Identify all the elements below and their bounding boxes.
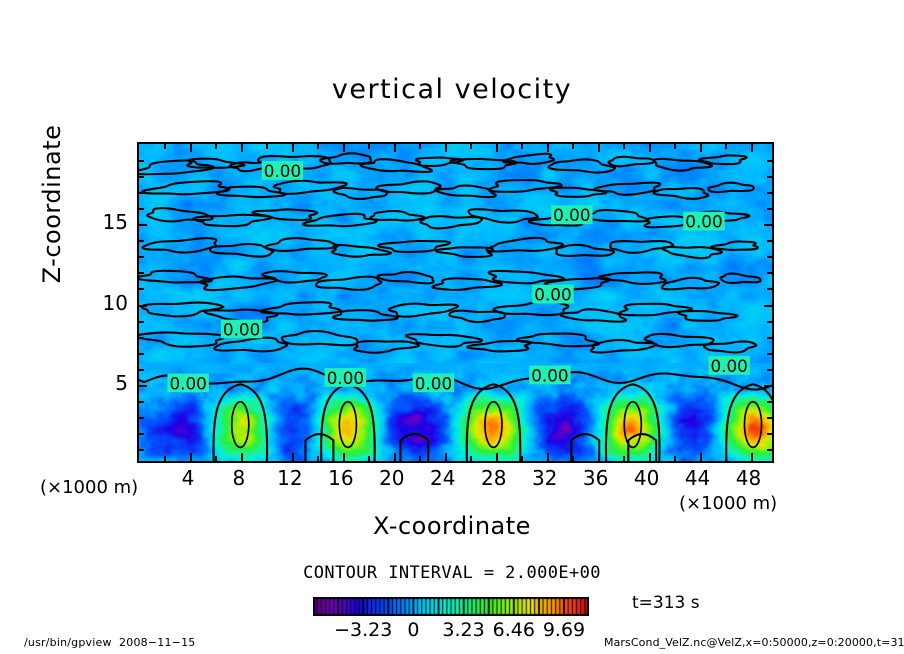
x-tick-top-8 [241, 144, 243, 152]
y-tick-right-18 [767, 176, 772, 178]
y-tick-right-16 [767, 208, 772, 210]
x-tick-bottom-4 [190, 453, 192, 461]
y-tick-right-1 [767, 449, 772, 451]
x-tick-label-28: 28 [481, 466, 506, 490]
y-tick-left-16 [139, 208, 144, 210]
x-unit-left-label: (×1000 m) [40, 477, 138, 498]
x-tick-bottom-28 [496, 453, 498, 461]
x-tick-label-48: 48 [736, 466, 761, 490]
x-tick-top-34 [572, 144, 574, 149]
contour-value-label: 0.00 [327, 368, 364, 388]
x-tick-bottom-14 [317, 456, 319, 461]
contour-value-label: 0.00 [223, 319, 260, 339]
x-tick-bottom-18 [368, 456, 370, 461]
x-tick-label-20: 20 [379, 466, 404, 490]
x-tick-label-32: 32 [532, 466, 557, 490]
y-tick-label-5: 5 [115, 371, 128, 395]
y-tick-right-9 [767, 321, 772, 323]
y-tick-label-15: 15 [103, 210, 128, 234]
x-tick-label-4: 4 [182, 466, 195, 490]
x-tick-label-44: 44 [685, 466, 710, 490]
x-tick-top-12 [292, 144, 294, 152]
y-tick-left-3 [139, 417, 144, 419]
y-tick-label-10: 10 [103, 291, 128, 315]
y-tick-left-12 [139, 272, 144, 274]
y-tick-right-5 [764, 385, 772, 387]
y-tick-left-17 [139, 192, 144, 194]
x-tick-top-36 [598, 144, 600, 152]
y-tick-right-15 [764, 224, 772, 226]
y-tick-right-14 [767, 240, 772, 242]
x-tick-top-42 [674, 144, 676, 149]
y-tick-right-19 [767, 160, 772, 162]
x-tick-label-8: 8 [233, 466, 246, 490]
colorbar-tick-labels: −3.2303.236.469.69 [313, 619, 589, 641]
x-tick-bottom-6 [215, 456, 217, 461]
x-tick-top-14 [317, 144, 319, 149]
x-tick-bottom-10 [266, 456, 268, 461]
y-tick-left-10 [139, 305, 147, 307]
x-tick-label-40: 40 [634, 466, 659, 490]
x-tick-label-12: 12 [277, 466, 302, 490]
y-tick-left-8 [139, 337, 144, 339]
x-tick-top-10 [266, 144, 268, 149]
x-tick-label-24: 24 [430, 466, 455, 490]
y-tick-left-7 [139, 353, 144, 355]
y-tick-right-4 [767, 401, 772, 403]
contour-value-label: 0.00 [170, 373, 207, 393]
y-tick-right-8 [767, 337, 772, 339]
y-tick-right-6 [767, 369, 772, 371]
x-tick-top-2 [164, 144, 166, 149]
contour-value-label: 0.00 [531, 365, 568, 385]
x-tick-top-24 [445, 144, 447, 152]
x-tick-bottom-48 [751, 453, 753, 461]
contour-plot-area[interactable]: 0.000.000.000.000.000.000.000.000.000.00 [137, 142, 774, 463]
contour-value-label: 0.00 [553, 205, 590, 225]
x-axis-title: X-coordinate [0, 512, 904, 540]
x-tick-top-28 [496, 144, 498, 152]
y-tick-right-11 [767, 288, 772, 290]
x-tick-bottom-46 [725, 456, 727, 461]
x-tick-top-4 [190, 144, 192, 152]
y-tick-right-10 [764, 305, 772, 307]
x-tick-top-22 [419, 144, 421, 149]
y-tick-left-19 [139, 160, 144, 162]
colorbar-label-2: 3.23 [442, 619, 484, 641]
x-tick-bottom-40 [649, 453, 651, 461]
contour-value-label: 0.00 [415, 373, 452, 393]
y-tick-left-14 [139, 240, 144, 242]
x-tick-bottom-42 [674, 456, 676, 461]
contour-interval-label: CONTOUR INTERVAL = 2.000E+00 [0, 563, 904, 583]
x-tick-top-40 [649, 144, 651, 152]
y-tick-left-11 [139, 288, 144, 290]
x-tick-bottom-22 [419, 456, 421, 461]
y-tick-right-3 [767, 417, 772, 419]
x-tick-top-18 [368, 144, 370, 149]
x-tick-top-44 [700, 144, 702, 152]
x-tick-bottom-8 [241, 453, 243, 461]
x-tick-bottom-30 [521, 456, 523, 461]
x-tick-bottom-44 [700, 453, 702, 461]
x-tick-bottom-2 [164, 456, 166, 461]
time-annotation: t=313 s [632, 593, 700, 613]
y-axis-tick-labels: 51015 [88, 142, 128, 463]
y-tick-left-9 [139, 321, 144, 323]
contour-value-label: 0.00 [264, 161, 301, 181]
x-tick-top-30 [521, 144, 523, 149]
x-tick-top-6 [215, 144, 217, 149]
colorbar-label-3: 6.46 [493, 619, 535, 641]
x-tick-label-16: 16 [328, 466, 353, 490]
x-tick-bottom-26 [470, 456, 472, 461]
x-tick-top-38 [623, 144, 625, 149]
y-tick-left-4 [139, 401, 144, 403]
footer-command-stamp: /usr/bin/gpview 2008−11−15 [24, 636, 195, 649]
x-tick-top-46 [725, 144, 727, 149]
y-tick-left-18 [139, 176, 144, 178]
colorbar-gradient [313, 597, 589, 616]
colorbar-label-1: 0 [407, 619, 419, 641]
contour-label-overlay: 0.000.000.000.000.000.000.000.000.000.00 [139, 144, 772, 461]
x-tick-bottom-16 [343, 453, 345, 461]
x-tick-top-26 [470, 144, 472, 149]
x-tick-bottom-24 [445, 453, 447, 461]
x-tick-bottom-32 [547, 453, 549, 461]
y-tick-right-17 [767, 192, 772, 194]
y-tick-left-1 [139, 449, 144, 451]
y-tick-left-2 [139, 433, 144, 435]
page-title: vertical velocity [0, 74, 904, 105]
colorbar [313, 597, 589, 616]
x-tick-top-20 [394, 144, 396, 152]
colorbar-label-0: −3.23 [334, 619, 392, 641]
y-tick-left-5 [139, 385, 147, 387]
x-tick-top-16 [343, 144, 345, 152]
y-tick-right-2 [767, 433, 772, 435]
x-tick-bottom-34 [572, 456, 574, 461]
x-tick-bottom-38 [623, 456, 625, 461]
y-tick-right-13 [767, 256, 772, 258]
y-tick-right-12 [767, 272, 772, 274]
y-tick-left-6 [139, 369, 144, 371]
x-tick-top-48 [751, 144, 753, 152]
x-tick-label-36: 36 [583, 466, 608, 490]
contour-value-label: 0.00 [710, 356, 747, 376]
colorbar-label-4: 9.69 [543, 619, 585, 641]
contour-value-label: 0.00 [534, 285, 571, 305]
x-unit-right-label: (×1000 m) [679, 493, 777, 514]
contour-value-label: 0.00 [685, 212, 722, 232]
x-tick-bottom-20 [394, 453, 396, 461]
y-axis-title: Z-coordinate [38, 94, 66, 314]
y-tick-left-13 [139, 256, 144, 258]
x-tick-bottom-36 [598, 453, 600, 461]
x-tick-bottom-12 [292, 453, 294, 461]
footer-dataset-stamp: MarsCond_VelZ.nc@VelZ,x=0:50000,z=0:2000… [604, 636, 904, 649]
y-tick-right-7 [767, 353, 772, 355]
y-tick-left-15 [139, 224, 147, 226]
x-tick-top-32 [547, 144, 549, 152]
